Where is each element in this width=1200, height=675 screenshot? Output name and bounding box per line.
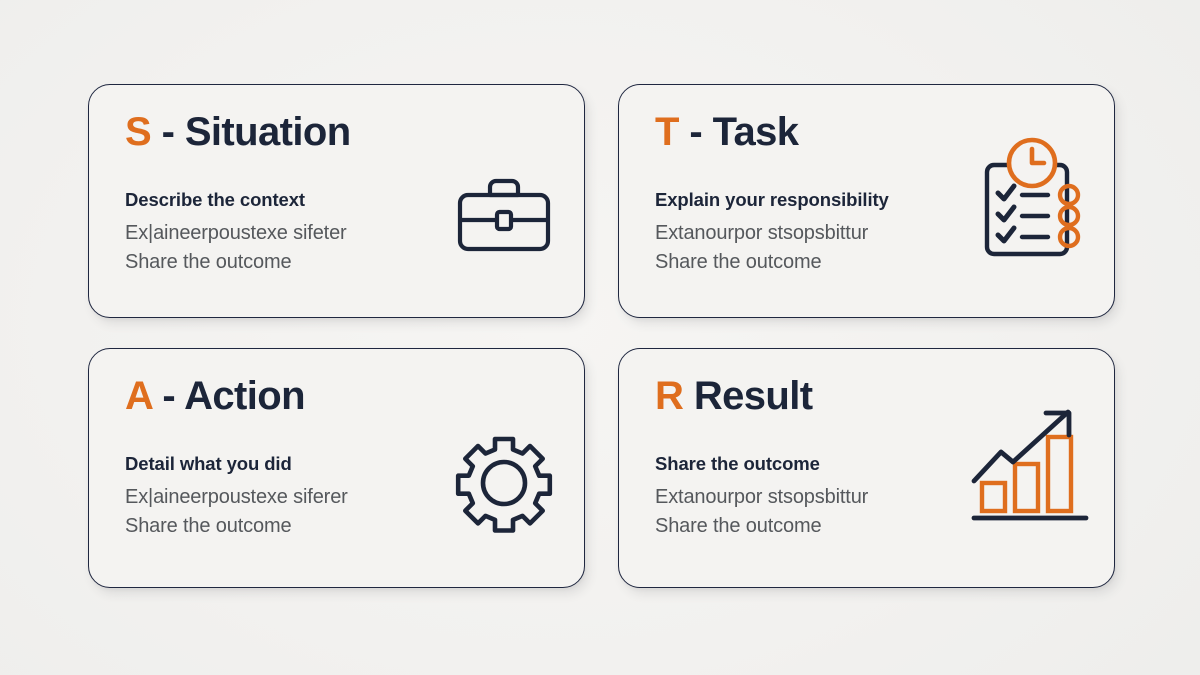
card-action[interactable]: A - Action Detail what you did Ex|aineer… [88,348,585,588]
gear-icon [454,433,554,533]
clipboard-checklist-icon [976,135,1094,277]
briefcase-icon [452,173,556,257]
card-action-title-rest: Action [184,374,305,418]
card-situation-letter: S [125,110,151,154]
card-action-title: A - Action [125,375,554,417]
card-task[interactable]: T - Task Explain your responsibility Ext… [618,84,1115,318]
card-situation[interactable]: S - Situation Describe the context Ex|ai… [88,84,585,318]
card-action-separator: - [152,374,184,418]
card-task-letter: T [655,110,679,154]
card-result-separator [683,374,694,418]
star-method-card-grid: S - Situation Describe the context Ex|ai… [88,84,1104,588]
growth-chart-icon [968,401,1094,527]
card-situation-separator: - [151,110,185,154]
card-situation-title: S - Situation [125,111,554,153]
card-result-letter: R [655,374,683,418]
card-task-separator: - [679,110,713,154]
card-action-content: A - Action Detail what you did Ex|aineer… [89,349,584,587]
card-task-title-rest: Task [713,110,799,154]
card-task-content: T - Task Explain your responsibility Ext… [619,85,1114,317]
card-result[interactable]: R Result Share the outcome Extanourpor s… [618,348,1115,588]
card-result-title-rest: Result [694,374,813,418]
slide-canvas: S - Situation Describe the context Ex|ai… [0,0,1200,675]
card-result-content: R Result Share the outcome Extanourpor s… [619,349,1114,587]
card-action-letter: A [125,374,152,418]
card-situation-title-rest: Situation [185,110,351,154]
card-situation-content: S - Situation Describe the context Ex|ai… [89,85,584,317]
